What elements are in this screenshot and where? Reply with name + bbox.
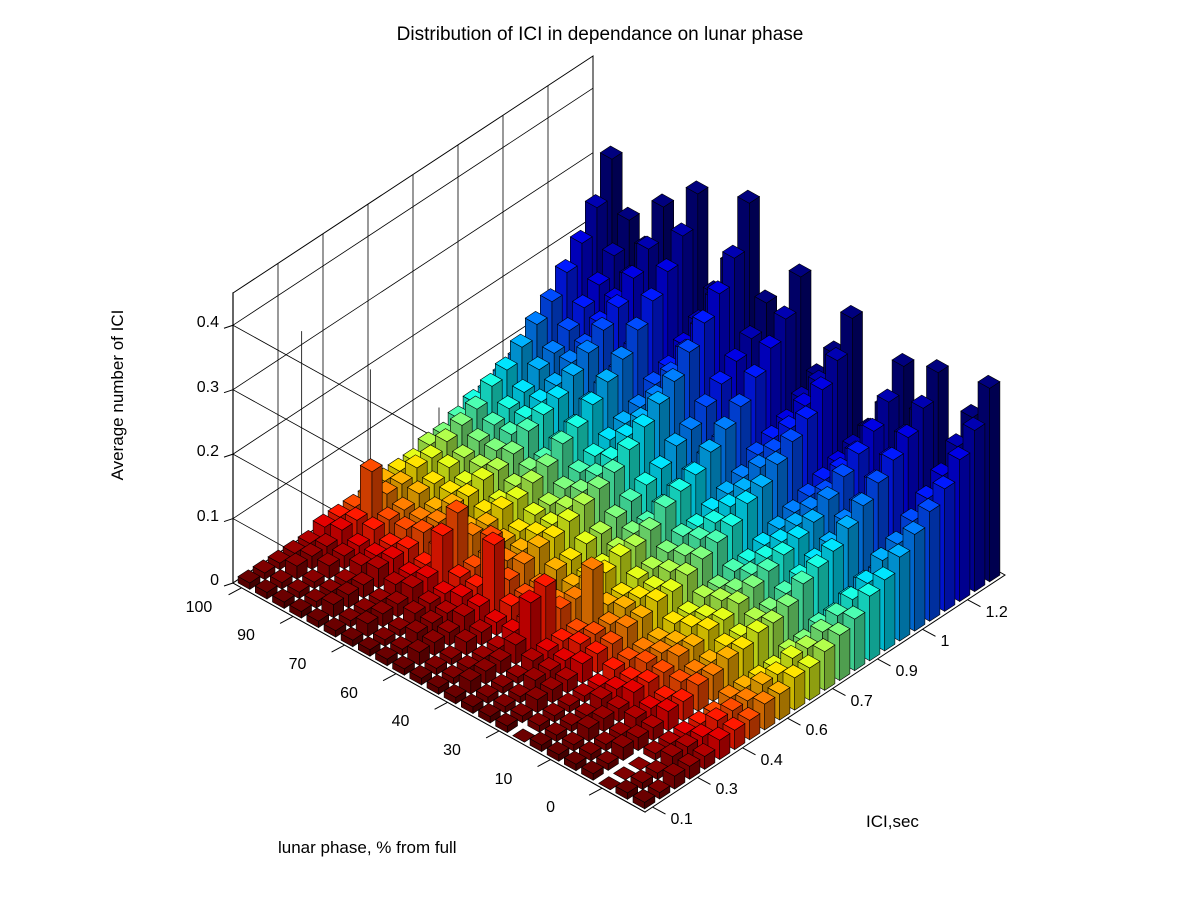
x-tick-mark	[589, 788, 602, 795]
y-tick-mark	[653, 807, 666, 814]
y-tick-label: 0.7	[851, 693, 873, 711]
y-tick-label: 1	[941, 633, 950, 651]
y-tick-label: 0.3	[716, 781, 738, 799]
z-axis-label: Average number of ICI	[108, 265, 128, 525]
z-tick-mark	[224, 325, 233, 328]
y-tick-mark	[788, 718, 801, 725]
y-tick-mark	[968, 600, 981, 607]
x-tick-mark	[486, 731, 499, 738]
y-tick-mark	[833, 689, 846, 696]
z-tick-label: 0.2	[161, 443, 219, 461]
x-tick-label: 90	[237, 627, 255, 645]
z-tick-label: 0.3	[161, 379, 219, 397]
y-tick-label: 0.1	[671, 811, 693, 829]
y-tick-label: 0.6	[806, 722, 828, 740]
z-tick-mark	[224, 519, 233, 522]
y-tick-label: 0.9	[896, 663, 918, 681]
x-tick-mark	[538, 760, 551, 767]
y-tick-mark	[923, 629, 936, 636]
y-tick-label: 1.2	[986, 604, 1008, 622]
x-tick-label: 40	[392, 713, 410, 731]
x-tick-label: 10	[495, 771, 513, 789]
page-title: Distribution of ICI in dependance on lun…	[0, 24, 1200, 46]
z-tick-label: 0.4	[161, 314, 219, 332]
y-tick-mark	[698, 777, 711, 784]
z-tick-mark	[224, 390, 233, 393]
x-tick-label: 70	[289, 656, 307, 674]
x-tick-label: 0	[546, 799, 555, 817]
z-tick-mark	[224, 454, 233, 457]
y-tick-mark	[878, 659, 891, 666]
figure-canvas: Distribution of ICI in dependance on lun…	[0, 0, 1200, 901]
y-tick-label: 0.4	[761, 752, 783, 770]
x-tick-label: 30	[443, 742, 461, 760]
x-axis-label: lunar phase, % from full	[278, 838, 457, 858]
x-tick-mark	[229, 588, 242, 595]
y-tick-mark	[743, 748, 756, 755]
x-tick-mark	[435, 702, 448, 709]
z-tick-label: 0	[161, 572, 219, 590]
x-tick-mark	[383, 674, 396, 681]
x-tick-mark	[332, 645, 345, 652]
x-tick-label: 60	[340, 685, 358, 703]
x-tick-label: 100	[186, 599, 213, 617]
z-tick-label: 0.1	[161, 508, 219, 526]
z-tick-mark	[224, 583, 233, 586]
x-tick-mark	[280, 616, 293, 623]
y-axis-label: ICI,sec	[866, 812, 919, 832]
